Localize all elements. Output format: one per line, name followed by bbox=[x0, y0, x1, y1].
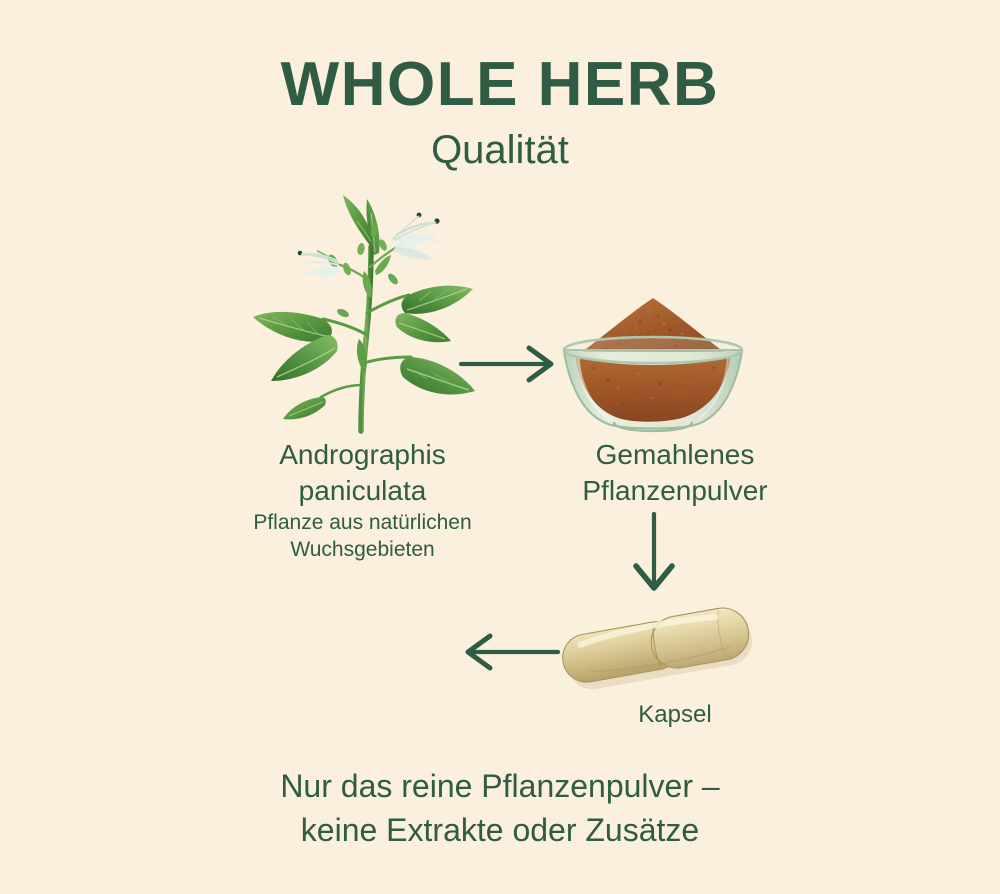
page-title: WHOLE HERB bbox=[0, 52, 1000, 117]
plant-sublabel: Pflanze aus natürlichen Wuchsgebieten bbox=[185, 509, 540, 564]
plant-sublabel-line1: Pflanze aus natürlichen bbox=[185, 509, 540, 536]
andrographis-plant-icon bbox=[243, 185, 493, 435]
powder-label-line2: Pflanzenpulver bbox=[490, 473, 860, 509]
powder-bowl-icon bbox=[548, 288, 758, 433]
powder-label: Gemahlenes Pflanzenpulver bbox=[490, 437, 860, 509]
footer-tagline-line1: Nur das reine Pflanzenpulver – bbox=[0, 764, 1000, 808]
page-subtitle: Qualität bbox=[0, 128, 1000, 172]
powder-label-line1: Gemahlenes bbox=[490, 437, 860, 473]
plant-label-line1: Andrographis bbox=[185, 437, 540, 473]
capsule-icon bbox=[548, 600, 763, 695]
infographic-canvas: WHOLE HERB Qualität bbox=[0, 0, 1000, 894]
footer-tagline-line2: keine Extrakte oder Zusätze bbox=[0, 808, 1000, 852]
plant-label-line2: paniculata bbox=[185, 473, 540, 509]
plant-sublabel-line2: Wuchsgebieten bbox=[185, 536, 540, 563]
capsule-label: Kapsel bbox=[490, 701, 860, 730]
arrow-down-icon bbox=[618, 508, 690, 600]
capsule-label-line1: Kapsel bbox=[490, 701, 860, 730]
arrow-left-icon bbox=[452, 624, 564, 680]
plant-label: Andrographis paniculata bbox=[185, 437, 540, 509]
footer-tagline: Nur das reine Pflanzenpulver – keine Ext… bbox=[0, 764, 1000, 852]
